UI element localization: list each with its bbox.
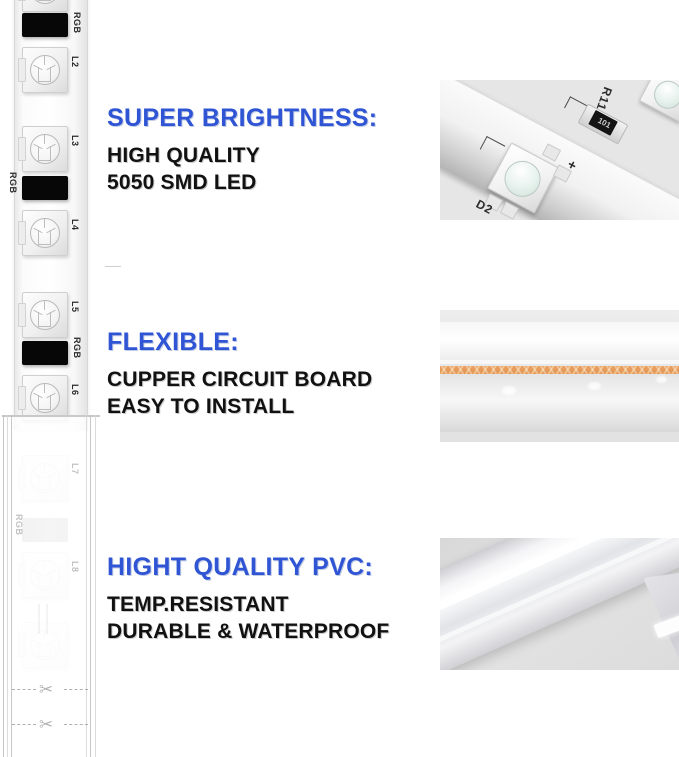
rgb-driver-ic — [22, 341, 68, 365]
led-dome-icon — [30, 300, 60, 330]
feature-photo-copper-core — [440, 310, 679, 442]
led-chip — [22, 0, 68, 12]
feature-line: DURABLE & WATERPROOF — [107, 619, 389, 646]
pvc-sleeve-rib — [86, 415, 87, 757]
component-label-rgb: RGB — [8, 172, 18, 194]
pcb-right-edge — [87, 0, 88, 430]
feature-line: TEMP.RESISTANT — [107, 592, 389, 619]
specular-spot — [588, 382, 601, 390]
feature-line: HIGH QUALITY — [107, 143, 377, 170]
pvc-sleeve-rib — [3, 415, 4, 757]
component-label-rgb: RGB — [72, 12, 82, 34]
feature-heading: SUPER BRIGHTNESS: — [107, 104, 377, 133]
led-strip-illustration: RGB L2 L3 RGB L4 — [0, 0, 102, 757]
feature-block-brightness: SUPER BRIGHTNESS: HIGH QUALITY 5050 SMD … — [107, 104, 377, 197]
pvc-sleeve-rib — [90, 415, 91, 757]
led-chip-l2 — [22, 47, 68, 93]
pvc-sleeve-bottom-wall — [440, 374, 679, 432]
led-chip-l5 — [22, 292, 68, 338]
feature-line: 5050 SMD LED — [107, 170, 377, 197]
divider-dash — [105, 266, 121, 267]
led-dome-icon — [30, 383, 60, 413]
feature-block-flexible: FLEXIBLE: CUPPER CIRCUIT BOARD EASY TO I… — [107, 328, 372, 421]
feature-heading: FLEXIBLE: — [107, 328, 372, 357]
cut-line-dash — [12, 689, 36, 691]
cut-line-dash — [12, 724, 36, 726]
led-lens-icon — [649, 80, 679, 114]
led-lens-icon — [498, 155, 547, 204]
rgb-driver-ic — [22, 176, 68, 200]
pcb-left-edge — [14, 0, 15, 430]
feature-line: CUPPER CIRCUIT BOARD — [107, 367, 372, 394]
pvc-sleeve-rib — [95, 415, 96, 757]
feature-heading: HIGHT QUALITY PVC: — [107, 553, 389, 582]
component-label-l3: L3 — [70, 135, 80, 147]
component-label-rgb: RGB — [14, 514, 24, 536]
cut-line-dash — [64, 724, 88, 726]
scissors-icon: ✂ — [39, 714, 53, 736]
cut-line-dash — [64, 689, 88, 691]
feature-photo-led-closeup: 101 R11 D2 + — [440, 80, 679, 220]
specular-spot — [502, 386, 516, 395]
cut-mark: ✂ — [12, 714, 88, 736]
scissors-icon: ✂ — [39, 679, 53, 701]
infographic-page: RGB L2 L3 RGB L4 — [0, 0, 679, 757]
cut-mark: ✂ — [12, 679, 88, 701]
led-chip-l3 — [22, 126, 68, 172]
component-label-l4: L4 — [70, 219, 80, 231]
led-dome-icon — [30, 0, 60, 4]
pvc-sleeve-rib — [7, 415, 8, 757]
resistor-code: 101 — [596, 116, 612, 131]
component-label-l8: L8 — [70, 561, 80, 573]
component-label-l2: L2 — [70, 56, 80, 68]
feature-block-pvc: HIGHT QUALITY PVC: TEMP.RESISTANT DURABL… — [107, 553, 389, 646]
component-label-rgb: RGB — [72, 337, 82, 359]
led-dome-icon — [30, 55, 60, 85]
feature-line: EASY TO INSTALL — [107, 394, 372, 421]
rgb-driver-ic — [22, 13, 68, 37]
led-dome-icon — [30, 134, 60, 164]
pvc-sleeve-rib — [11, 415, 12, 757]
sleeve-highlight — [440, 360, 679, 364]
led-chip-l4 — [22, 210, 68, 256]
component-label-l7: L7 — [70, 463, 80, 475]
feature-photo-pvc-cut-end — [440, 538, 679, 670]
led-dome-icon — [30, 218, 60, 248]
component-label-l6: L6 — [70, 384, 80, 396]
component-label-l5: L5 — [70, 301, 80, 313]
specular-spot — [656, 376, 667, 383]
